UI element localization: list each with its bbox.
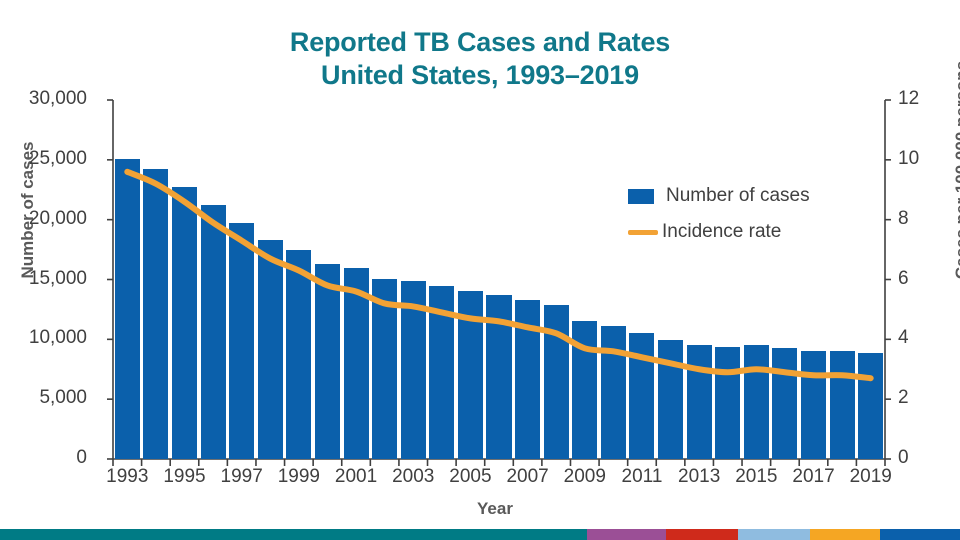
y-tick-label: 5,000 [0, 387, 87, 409]
secondary-y-tick-label: 4 [898, 327, 958, 349]
footer-color-strip [0, 529, 960, 540]
chart-title: Reported TB Cases and Rates United State… [0, 26, 960, 92]
legend-item-incidence-rate: Incidence rate [628, 214, 810, 250]
secondary-y-tick-label: 6 [898, 268, 958, 290]
y-tick-label: 10,000 [0, 327, 87, 349]
x-tick-label-1999: 1999 [278, 466, 320, 488]
blue-segment [880, 529, 960, 540]
x-tick-label-2013: 2013 [678, 466, 720, 488]
y-tick-label: 15,000 [0, 268, 87, 290]
teal-segment [0, 529, 587, 540]
x-tick-label-2003: 2003 [392, 466, 434, 488]
x-tick-label-2005: 2005 [449, 466, 491, 488]
line-series-incidence-rate [113, 100, 885, 459]
y-tick-label: 0 [0, 447, 87, 469]
secondary-y-tick-label: 10 [898, 148, 958, 170]
purple-segment [587, 529, 666, 540]
legend-label-number-of-cases: Number of cases [666, 185, 810, 207]
secondary-y-tick-label: 0 [898, 447, 958, 469]
x-tick-label-2001: 2001 [335, 466, 377, 488]
secondary-y-tick-label: 2 [898, 387, 958, 409]
plot-area [113, 100, 885, 459]
red-segment [666, 529, 738, 540]
y-tick-label: 25,000 [0, 148, 87, 170]
secondary-y-tick-label: 8 [898, 208, 958, 230]
y-tick-label: 30,000 [0, 88, 87, 110]
x-tick-label-2015: 2015 [735, 466, 777, 488]
secondary-y-tick-label: 12 [898, 88, 958, 110]
x-axis-title: Year [110, 499, 880, 519]
chart-title-line1: Reported TB Cases and Rates [290, 27, 670, 57]
line-swatch-icon [628, 230, 658, 235]
x-tick-label-2011: 2011 [622, 466, 663, 488]
x-tick-label-1995: 1995 [163, 466, 205, 488]
chart-title-line2: United States, 1993–2019 [0, 59, 960, 92]
x-tick-label-2007: 2007 [506, 466, 548, 488]
x-tick-label-1997: 1997 [221, 466, 263, 488]
x-tick-label-2009: 2009 [564, 466, 606, 488]
x-tick-label-2019: 2019 [850, 466, 892, 488]
x-tick-label-2017: 2017 [792, 466, 834, 488]
chart-legend: Number of cases Incidence rate [628, 178, 810, 250]
x-tick-label-1993: 1993 [106, 466, 148, 488]
tb-cases-and-rates-chart: Reported TB Cases and Rates United State… [0, 0, 960, 540]
y-tick-label: 20,000 [0, 208, 87, 230]
bar-swatch-icon [628, 189, 654, 204]
light-blue-segment [738, 529, 810, 540]
orange-segment [810, 529, 880, 540]
legend-label-incidence-rate: Incidence rate [662, 221, 781, 243]
legend-item-number-of-cases: Number of cases [628, 178, 810, 214]
